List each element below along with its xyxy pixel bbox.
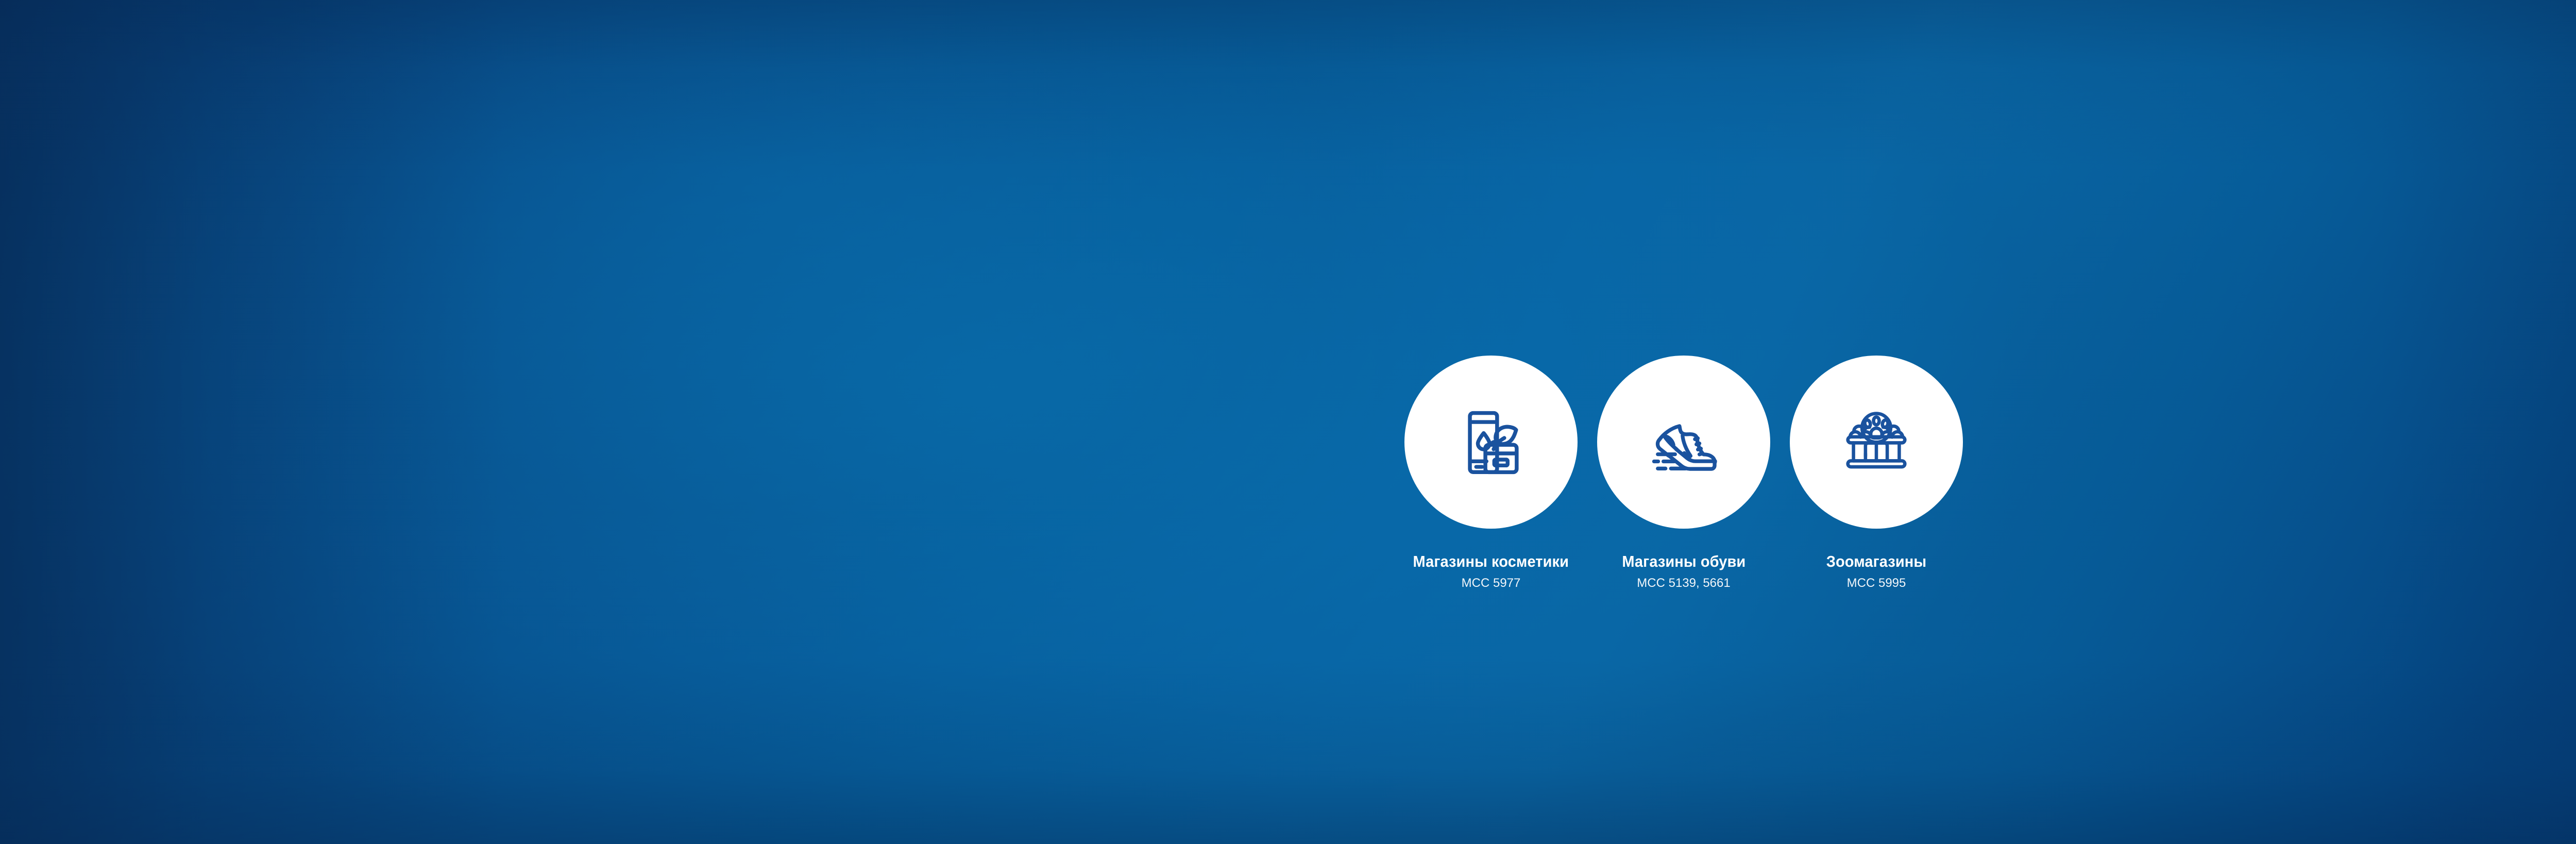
background-top-vignette — [0, 0, 2576, 844]
category-icon-circle — [1597, 356, 1770, 529]
background-left-vignette — [0, 0, 2576, 844]
background-base-gradient — [0, 0, 2576, 844]
pet-store-paw-building-icon — [1829, 395, 1923, 489]
category-list: Магазины косметики MCC 5977 — [1402, 356, 1965, 590]
category-mcc-code: MCC 5139, 5661 — [1637, 577, 1730, 590]
background-center-glow — [0, 0, 2576, 844]
mcc-categories-banner: Магазины косметики MCC 5977 — [0, 0, 2576, 844]
category-mcc-code: MCC 5977 — [1462, 577, 1521, 590]
background-secondary-glow — [0, 0, 2576, 844]
cosmetics-tube-and-jar-icon — [1444, 395, 1538, 489]
category-title: Зоомагазины — [1826, 553, 1926, 570]
category-card-cosmetics[interactable]: Магазины косметики MCC 5977 — [1402, 356, 1580, 590]
category-card-pet-stores[interactable]: Зоомагазины MCC 5995 — [1788, 356, 1965, 590]
category-icon-circle — [1790, 356, 1963, 529]
category-mcc-code: MCC 5995 — [1847, 577, 1906, 590]
category-title: Магазины обуви — [1622, 553, 1745, 570]
category-icon-circle — [1404, 356, 1578, 529]
category-title: Магазины косметики — [1413, 553, 1569, 570]
category-card-shoes[interactable]: Магазины обуви MCC 5139, 5661 — [1595, 356, 1772, 590]
running-shoe-icon — [1637, 395, 1731, 489]
background-bottom-vignette — [0, 0, 2576, 844]
background-right-vignette — [0, 0, 2576, 844]
